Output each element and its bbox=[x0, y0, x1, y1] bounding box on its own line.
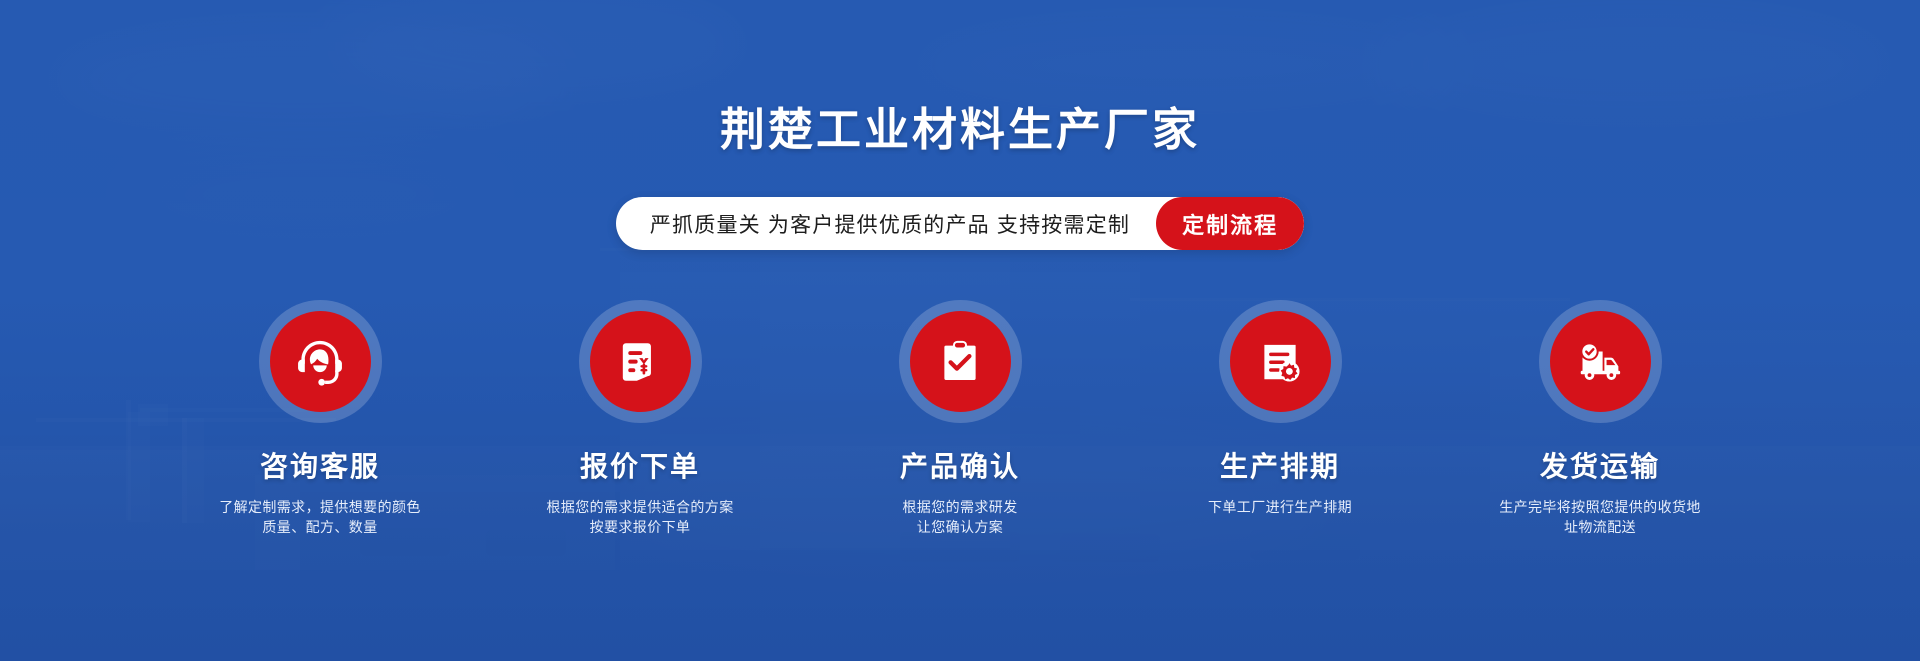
icon-ring bbox=[579, 300, 702, 423]
step-title: 报价下单 bbox=[510, 445, 770, 485]
icon-ring bbox=[259, 300, 382, 423]
step-title: 生产排期 bbox=[1150, 445, 1410, 485]
slogan-bar: 严抓质量关 为客户提供优质的产品 支持按需定制 定制流程 bbox=[0, 197, 1920, 250]
step-description: 了解定制需求，提供想要的颜色 质量、配方、数量 bbox=[190, 497, 450, 537]
step-title: 产品确认 bbox=[830, 445, 1090, 485]
page-title: 荆楚工业材料生产厂家 bbox=[0, 93, 1920, 158]
step-description: 下单工厂进行生产排期 bbox=[1150, 497, 1410, 517]
step-description-line: 质量、配方、数量 bbox=[190, 517, 450, 537]
icon-ring bbox=[899, 300, 1022, 423]
step-description-line: 按要求报价下单 bbox=[510, 517, 770, 537]
delivery-truck-check-icon bbox=[1572, 334, 1628, 390]
icon-disc bbox=[590, 311, 691, 412]
custom-process-button[interactable]: 定制流程 bbox=[1156, 197, 1304, 250]
step-description-line: 了解定制需求，提供想要的颜色 bbox=[190, 497, 450, 517]
step-description-line: 根据您的需求提供适合的方案 bbox=[510, 497, 770, 517]
process-step[interactable]: 咨询客服 了解定制需求，提供想要的颜色 质量、配方、数量 bbox=[190, 300, 450, 537]
step-description: 根据您的需求提供适合的方案 按要求报价下单 bbox=[510, 497, 770, 537]
step-description: 生产完毕将按照您提供的收货地 址物流配送 bbox=[1470, 497, 1730, 537]
step-description: 根据您的需求研发 让您确认方案 bbox=[830, 497, 1090, 537]
icon-disc bbox=[270, 311, 371, 412]
icon-ring bbox=[1539, 300, 1662, 423]
clipboard-check-icon bbox=[935, 337, 985, 387]
step-description-line: 让您确认方案 bbox=[830, 517, 1090, 537]
headset-support-icon bbox=[293, 335, 347, 389]
quotation-invoice-yuan-icon bbox=[615, 337, 665, 387]
process-steps: 咨询客服 了解定制需求，提供想要的颜色 质量、配方、数量 bbox=[0, 300, 1920, 537]
icon-ring bbox=[1219, 300, 1342, 423]
step-title: 咨询客服 bbox=[190, 445, 450, 485]
step-description-line: 下单工厂进行生产排期 bbox=[1150, 497, 1410, 517]
step-title: 发货运输 bbox=[1470, 445, 1730, 485]
step-description-line: 根据您的需求研发 bbox=[830, 497, 1090, 517]
icon-disc bbox=[1230, 311, 1331, 412]
step-description-line: 址物流配送 bbox=[1470, 517, 1730, 537]
step-description-line: 生产完毕将按照您提供的收货地 bbox=[1470, 497, 1730, 517]
process-step[interactable]: 产品确认 根据您的需求研发 让您确认方案 bbox=[830, 300, 1090, 537]
promo-banner: 荆楚工业材料生产厂家 严抓质量关 为客户提供优质的产品 支持按需定制 定制流程 bbox=[0, 0, 1920, 661]
icon-disc bbox=[1550, 311, 1651, 412]
icon-disc bbox=[910, 311, 1011, 412]
slogan-text: 严抓质量关 为客户提供优质的产品 支持按需定制 bbox=[616, 197, 1156, 250]
process-step[interactable]: 生产排期 下单工厂进行生产排期 bbox=[1150, 300, 1410, 517]
process-step[interactable]: 报价下单 根据您的需求提供适合的方案 按要求报价下单 bbox=[510, 300, 770, 537]
slogan-pill: 严抓质量关 为客户提供优质的产品 支持按需定制 定制流程 bbox=[616, 197, 1304, 250]
document-gear-icon bbox=[1255, 337, 1305, 387]
process-step[interactable]: 发货运输 生产完毕将按照您提供的收货地 址物流配送 bbox=[1470, 300, 1730, 537]
